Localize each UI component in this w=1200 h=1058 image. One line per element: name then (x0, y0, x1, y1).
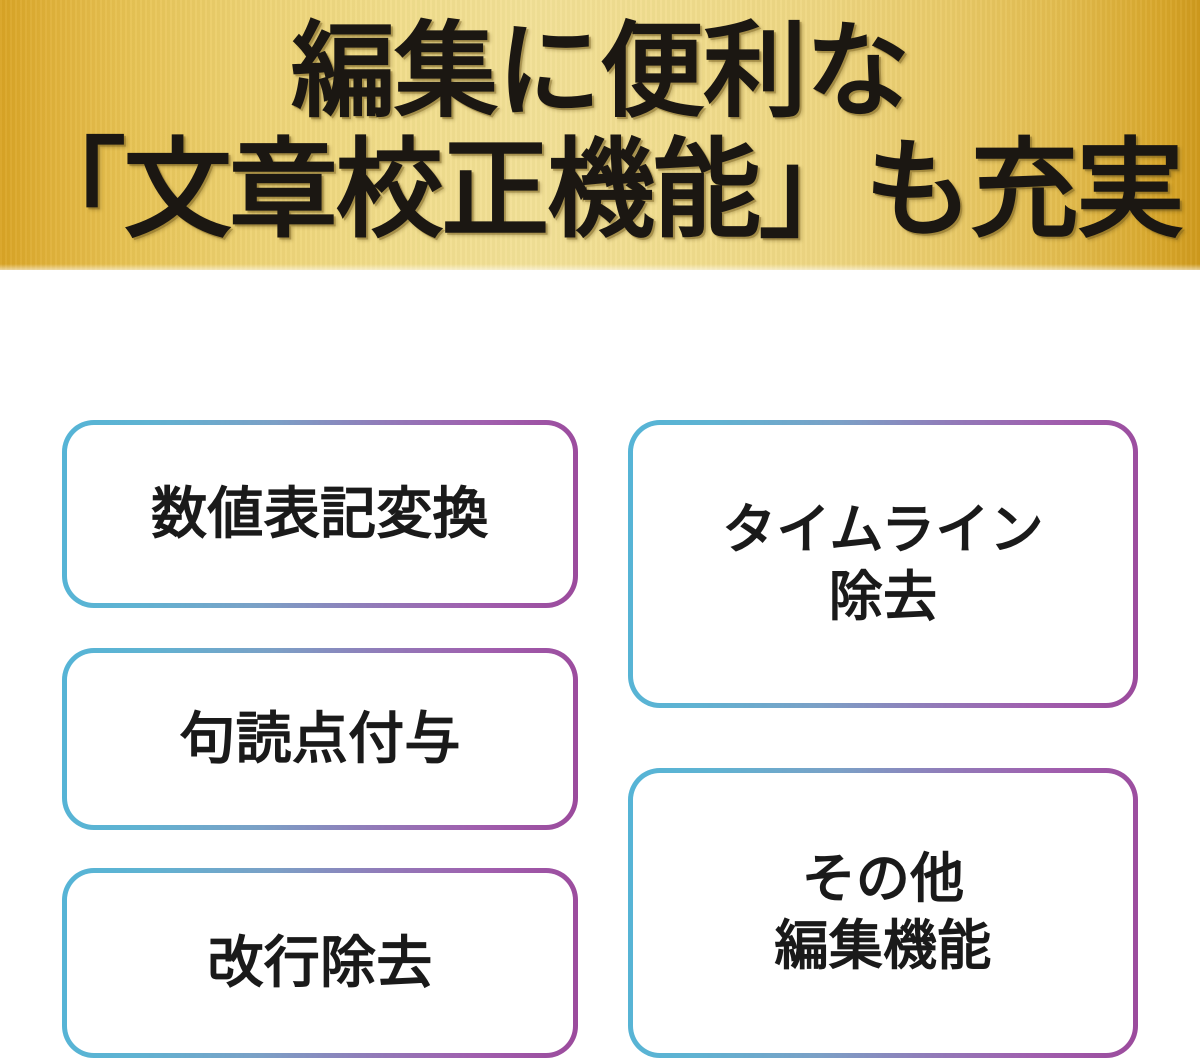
feature-card-label: 改行除去 (207, 930, 432, 996)
page-title: 編集に便利な 「文章校正機能」も充実 (0, 14, 1200, 251)
feature-card-linebreak-removal[interactable]: 改行除去 (62, 868, 578, 1058)
feature-card-label: その他 編集機能 (774, 846, 991, 980)
page-title-line-2: 「文章校正機能」も充実 (0, 130, 1200, 251)
feature-card-punctuation[interactable]: 句読点付与 (62, 648, 578, 830)
feature-card-timeline-removal[interactable]: タイムライン 除去 (628, 420, 1138, 708)
feature-card-label: 数値表記変換 (151, 481, 489, 547)
feature-card-other-editing[interactable]: その他 編集機能 (628, 768, 1138, 1058)
feature-card-numeric-notation[interactable]: 数値表記変換 (62, 420, 578, 608)
header-banner: 編集に便利な 「文章校正機能」も充実 (0, 0, 1200, 270)
feature-card-label: 句読点付与 (179, 706, 460, 772)
feature-card-grid: 数値表記変換 句読点付与 改行除去 タイムライン 除去 その他 編集機能 (0, 270, 1200, 1058)
feature-card-label: タイムライン 除去 (722, 497, 1044, 631)
page-title-line-1: 編集に便利な (0, 14, 1200, 130)
